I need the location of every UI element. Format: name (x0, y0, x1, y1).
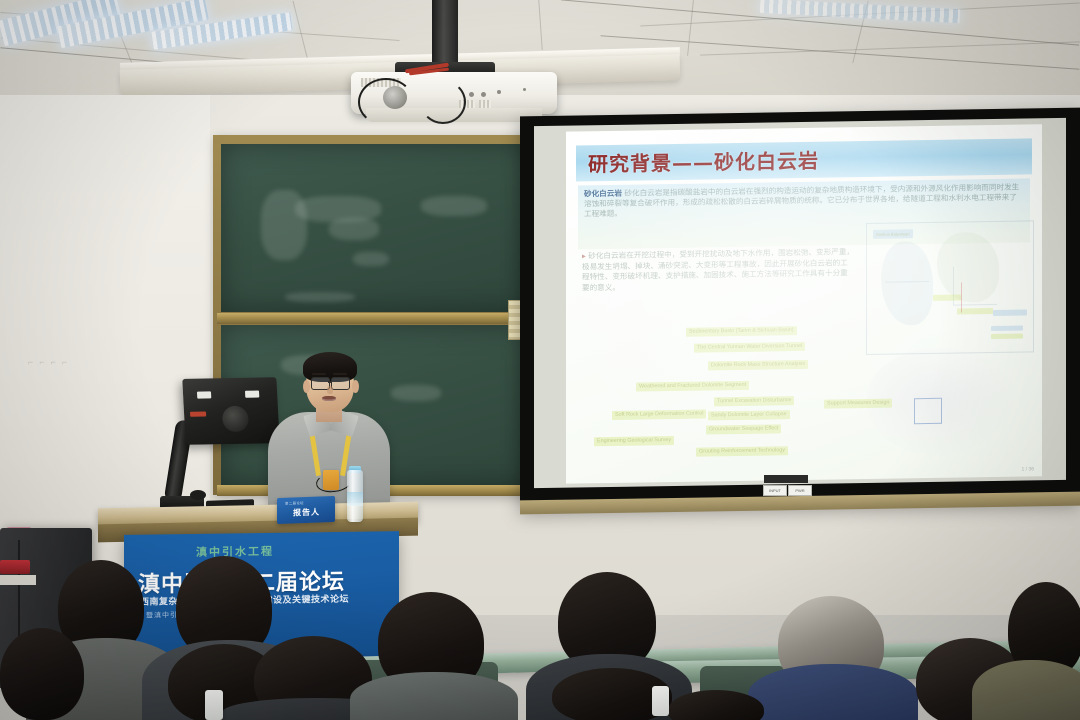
screen-tag-input: INPUT (763, 485, 787, 496)
presentation-slide: 研究背景——砂化白云岩 砂化白云岩 砂化白云岩是指碳酸盐岩中的白云岩在强烈的构造… (566, 124, 1042, 483)
slide-bullet: ▸ 砂化白云岩在开挖过程中，受到开挖扰动及地下水作用，围岩松弛、变形严重，极易发… (582, 247, 854, 293)
figure-hl-4 (993, 309, 1027, 316)
speaker-mouth (322, 396, 336, 401)
speaker-ear-left (303, 380, 310, 393)
figure-hl-3 (957, 308, 993, 315)
hl-box-7: Soft Rock Large Deformation Control (612, 409, 706, 419)
shelf (0, 575, 36, 585)
projector-pole (432, 0, 458, 66)
figure-hl-6 (991, 333, 1023, 339)
speaker-glasses-bridge (328, 381, 332, 383)
nameplate-label: 报告人 (293, 507, 320, 519)
hl-box-10: Grouting Reinforcement Technology (696, 446, 788, 456)
speaker-ear-right (352, 380, 359, 393)
screen-tag-power: PWR (788, 485, 812, 496)
nameplate-subtitle: 第二届论坛 (285, 500, 304, 506)
hl-box-5: Sandy Dolomite Layer Collapse (708, 410, 790, 420)
projector-cable (358, 78, 414, 126)
water-bottle-label (347, 492, 363, 506)
speaker-glasses-right-lens (331, 377, 350, 390)
slide-title: 研究背景——砂化白云岩 (588, 145, 819, 178)
slide-page-number: 1 / 36 (1021, 466, 1034, 472)
hl-box-3: Weathered and Fractured Dolomite Segment (636, 381, 749, 392)
hl-box-8: Engineering Geological Survey (594, 436, 674, 446)
attendee-phone-left (205, 690, 223, 720)
slide-paragraph: 砂化白云岩 砂化白云岩是指碳酸盐岩中的白云岩在强烈的构造运动的复杂地质构造环境下… (584, 182, 1024, 219)
screen-surface: 研究背景——砂化白云岩 砂化白云岩 砂化白云岩是指碳酸盐岩中的白云岩在强烈的构造… (534, 118, 1066, 488)
hl-box-2: Dolomite Rock Mass Structure Analysis (708, 360, 808, 371)
screen-label-plate (764, 475, 808, 483)
figure-hl-1: Sanhua Baiyunyan (873, 229, 913, 239)
monitor (182, 377, 279, 445)
hl-box-4: Tunnel Excavation Disturbance (714, 396, 794, 406)
speaker-nameplate: 第二届论坛 报告人 (277, 496, 335, 524)
speaker-nose (327, 386, 333, 394)
figure-hl-2 (933, 294, 961, 300)
projector-cable-2 (420, 80, 466, 124)
slide-body-label: 砂化白云岩 (584, 189, 622, 199)
slide-figure-highlight-box (914, 398, 942, 424)
hl-box-1: The Central Yunnan Water Diversion Tunne… (694, 342, 805, 353)
audience-shoulders-6 (350, 672, 518, 720)
audience-shoulders-9 (748, 664, 918, 720)
hl-box-6: Groundwater Seepage Effect (706, 424, 781, 434)
attendee-phone-right (652, 686, 669, 716)
hl-box-0: Sedimentary Basin (Tarim & Sichuan Basin… (686, 326, 797, 337)
audience-head-3 (0, 628, 84, 720)
figure-hl-5 (991, 325, 1023, 331)
hl-box-9: Support Measures Design (824, 399, 892, 409)
slide-paragraph-text: 砂化白云岩是指碳酸盐岩中的白云岩在强烈的构造运动的复杂地质构造环境下，受内源和外… (584, 183, 1019, 219)
red-box-object (0, 560, 30, 574)
slide-bullet-text: 砂化白云岩在开挖过程中，受到开挖扰动及地下水作用，围岩松弛、变形严重，极易发生坍… (582, 247, 854, 292)
slide-figure-map: Sanhua Baiyunyan (866, 220, 1034, 355)
projection-screen: 研究背景——砂化白云岩 砂化白云岩 砂化白云岩是指碳酸盐岩中的白云岩在强烈的构造… (520, 108, 1080, 509)
audience-shoulders-11 (972, 660, 1080, 720)
blackboard-upper-panel (221, 144, 535, 312)
wall-marks: ⌐ ⌐ ⌐ ⌐ (28, 357, 69, 367)
presentation-photo: ⌐ ⌐ ⌐ ⌐ (0, 0, 1080, 720)
blackboard-chalk-rail (217, 313, 539, 324)
desk-item-mouse (190, 490, 206, 500)
